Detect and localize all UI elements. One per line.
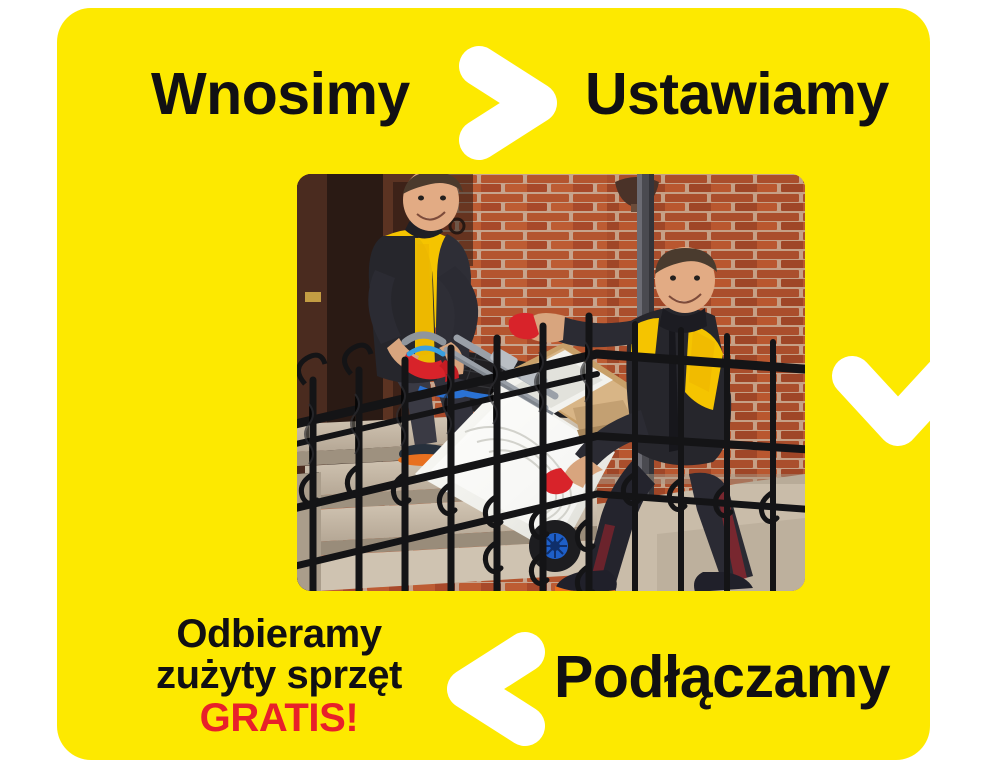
chevron-right-icon <box>453 44 565 162</box>
chevron-down-icon <box>830 352 966 456</box>
free-pickup-offer: Odbieramy zużyty sprzęt GRATIS! <box>129 614 429 740</box>
offer-line-2: zużyty sprzęt <box>129 655 429 696</box>
delivery-photo <box>297 174 805 591</box>
offer-line-gratis: GRATIS! <box>129 698 429 739</box>
banner-canvas: Wnosimy Ustawiamy Podłączamy Odbieramy z… <box>0 0 1000 772</box>
yellow-panel: Wnosimy Ustawiamy Podłączamy Odbieramy z… <box>57 8 930 760</box>
offer-line-1: Odbieramy <box>129 614 429 655</box>
step-label-wnosimy: Wnosimy <box>151 65 410 124</box>
step-label-podlaczamy: Podłączamy <box>554 648 890 707</box>
step-label-ustawiamy: Ustawiamy <box>585 65 889 124</box>
chevron-left-icon <box>439 630 551 748</box>
